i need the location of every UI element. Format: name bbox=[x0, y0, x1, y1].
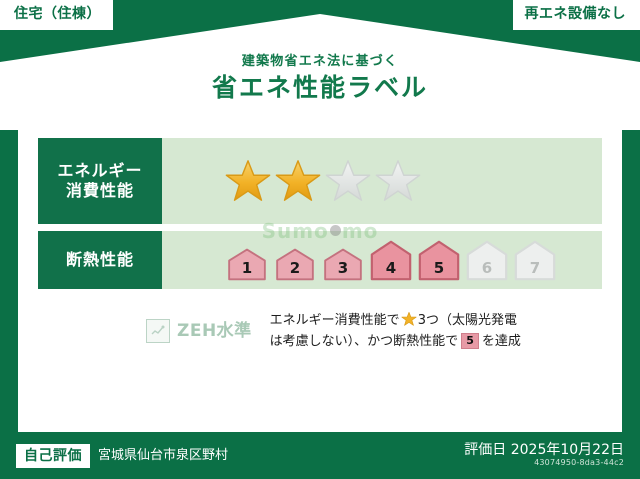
row-energy-label: エネルギー 消費性能 bbox=[38, 138, 162, 224]
insulation-grade-scale: 1 2 3 bbox=[224, 239, 558, 281]
house-grade-number-2: 2 bbox=[272, 261, 318, 276]
house-grade-number-4: 4 bbox=[368, 261, 414, 276]
energy-performance-label: 住宅（住棟） 再エネ設備なし 建築物省エネ法に基づく 省エネ性能ラベル Sumo… bbox=[0, 0, 640, 479]
zeh-desc-part2: は考慮しない）、かつ断熱性能で bbox=[270, 334, 459, 349]
zeh-badge-label: ZEH水準 bbox=[177, 323, 252, 340]
row-insulation-performance: 断熱性能 1 2 bbox=[38, 231, 602, 289]
house-grade-number-7: 7 bbox=[512, 261, 558, 276]
row-energy-consumption: エネルギー 消費性能 bbox=[38, 138, 602, 224]
star-icon-filled-1 bbox=[224, 157, 272, 205]
house-icon-grade-7: 7 bbox=[512, 239, 558, 281]
zeh-badge: ZEH水準 bbox=[146, 319, 252, 343]
star-icon-inline bbox=[401, 311, 417, 327]
footer-right-block: 評価日 2025年10月22日 43074950-8da3-44c2 bbox=[464, 442, 624, 468]
row-energy-label-line2: 消費性能 bbox=[66, 181, 134, 201]
row-insulation-label-text: 断熱性能 bbox=[66, 250, 134, 270]
house-grade-number-1: 1 bbox=[224, 261, 270, 276]
house-icon-grade-4: 4 bbox=[368, 239, 414, 281]
row-energy-label-line1: エネルギー bbox=[57, 161, 142, 181]
zeh-note: ZEH水準 エネルギー消費性能で3つ（太陽光発電は考慮しない）、かつ断熱性能で5… bbox=[38, 310, 602, 353]
self-evaluation-badge: 自己評価 bbox=[16, 444, 90, 468]
evaluation-id: 43074950-8da3-44c2 bbox=[464, 458, 624, 468]
renewable-energy-tag: 再エネ設備なし bbox=[513, 0, 640, 30]
house-icon-grade-2: 2 bbox=[272, 247, 318, 281]
house-icon-grade-6: 6 bbox=[464, 239, 510, 281]
house-grade-number-6: 6 bbox=[464, 261, 510, 276]
label-footer: 自己評価 宮城県仙台市泉区野村 評価日 2025年10月22日 43074950… bbox=[0, 432, 640, 479]
row-energy-body bbox=[162, 138, 602, 224]
zeh-glyph-icon bbox=[151, 325, 165, 337]
star-icon-empty-3 bbox=[324, 157, 372, 205]
evaluation-date: 評価日 2025年10月22日 bbox=[464, 442, 624, 458]
building-type-tag: 住宅（住棟） bbox=[0, 0, 113, 30]
star-icon-filled-2 bbox=[274, 157, 322, 205]
zeh-desc-part3: を達成 bbox=[482, 334, 521, 349]
house-grade-number-3: 3 bbox=[320, 261, 366, 276]
zeh-mark-icon bbox=[146, 319, 170, 343]
zeh-desc-stars: 3つ（太陽光発電 bbox=[418, 313, 517, 328]
star-icon-empty-4 bbox=[374, 157, 422, 205]
metric-rows: エネルギー 消費性能 bbox=[38, 138, 602, 289]
zeh-desc-part1: エネルギー消費性能で bbox=[270, 313, 400, 328]
row-insulation-label: 断熱性能 bbox=[38, 231, 162, 289]
property-address: 宮城県仙台市泉区野村 bbox=[98, 449, 228, 462]
star-rating bbox=[224, 157, 422, 205]
house-icon-grade-3: 3 bbox=[320, 247, 366, 281]
content-card: Sumomo エネルギー 消費性能 bbox=[18, 118, 622, 432]
house-icon-grade-5: 5 bbox=[416, 239, 462, 281]
house-icon-grade-1: 1 bbox=[224, 247, 270, 281]
house-grade-number-5: 5 bbox=[416, 261, 462, 276]
row-insulation-body: 1 2 3 bbox=[162, 231, 602, 289]
zeh-desc-grade-chip: 5 bbox=[461, 333, 479, 349]
zeh-description: エネルギー消費性能で3つ（太陽光発電は考慮しない）、かつ断熱性能で5を達成 bbox=[270, 310, 521, 353]
